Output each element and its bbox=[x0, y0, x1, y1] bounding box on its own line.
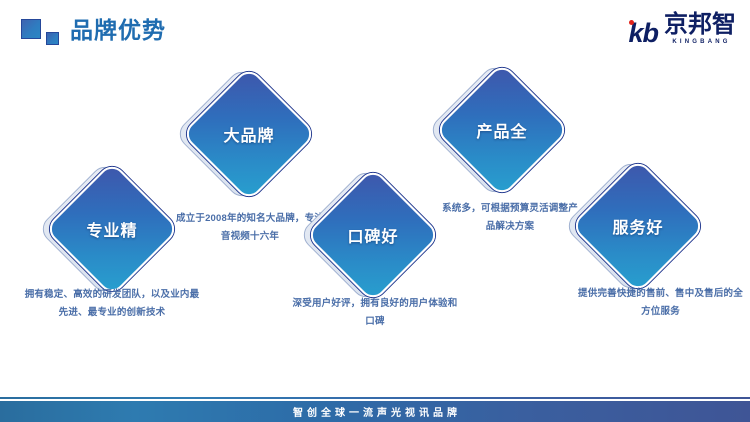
advantage-diamond-5[interactable]: 服务好 bbox=[590, 178, 686, 274]
brand-logo: kb 京邦智 KINGBANG bbox=[628, 13, 736, 47]
advantage-description-1: 拥有稳定、高效的研发团队，以及业内最先进、最专业的创新技术 bbox=[22, 286, 202, 322]
decor-square-small-icon bbox=[46, 32, 59, 45]
diamond-face bbox=[44, 161, 180, 297]
advantage-diamond-4[interactable]: 产品全 bbox=[454, 82, 550, 178]
decor-square-large-icon bbox=[21, 19, 41, 39]
slide-header: 品牌优势 kb 京邦智 KINGBANG bbox=[0, 0, 750, 56]
advantage-description-3: 深受用户好评，拥有良好的用户体验和口碑 bbox=[290, 295, 460, 331]
logo-wordmark: 京邦智 KINGBANG bbox=[662, 13, 736, 47]
page-title: 品牌优势 bbox=[70, 15, 166, 45]
diamond-face bbox=[434, 62, 570, 198]
advantage-description-4: 系统多，可根据预算灵活调整产品解决方案 bbox=[440, 200, 580, 236]
diamond-face bbox=[305, 167, 441, 303]
logo-mark-text: kb bbox=[628, 19, 662, 47]
slide-canvas: 品牌优势 kb 京邦智 KINGBANG 专业精 拥有稳定、高效的研发团队，以及… bbox=[0, 0, 750, 422]
advantage-diamond-3[interactable]: 口碑好 bbox=[325, 187, 421, 283]
advantage-description-5: 提供完善快捷的售前、售中及售后的全方位服务 bbox=[578, 285, 743, 321]
logo-english-name: KINGBANG bbox=[669, 38, 730, 47]
advantage-diamond-1[interactable]: 专业精 bbox=[64, 181, 160, 277]
logo-chinese-name: 京邦智 bbox=[664, 13, 736, 37]
logo-red-dot-icon bbox=[629, 20, 634, 25]
diamond-face bbox=[570, 158, 706, 294]
advantage-diamond-2[interactable]: 大品牌 bbox=[201, 86, 297, 182]
slide-footer: 智创全球一流声光视讯品牌 bbox=[0, 401, 750, 422]
footer-divider bbox=[0, 397, 750, 399]
diamond-face bbox=[181, 66, 317, 202]
advantage-description-2: 成立于2008年的知名大品牌，专注音视频十六年 bbox=[175, 210, 325, 246]
footer-slogan: 智创全球一流声光视讯品牌 bbox=[289, 404, 461, 419]
